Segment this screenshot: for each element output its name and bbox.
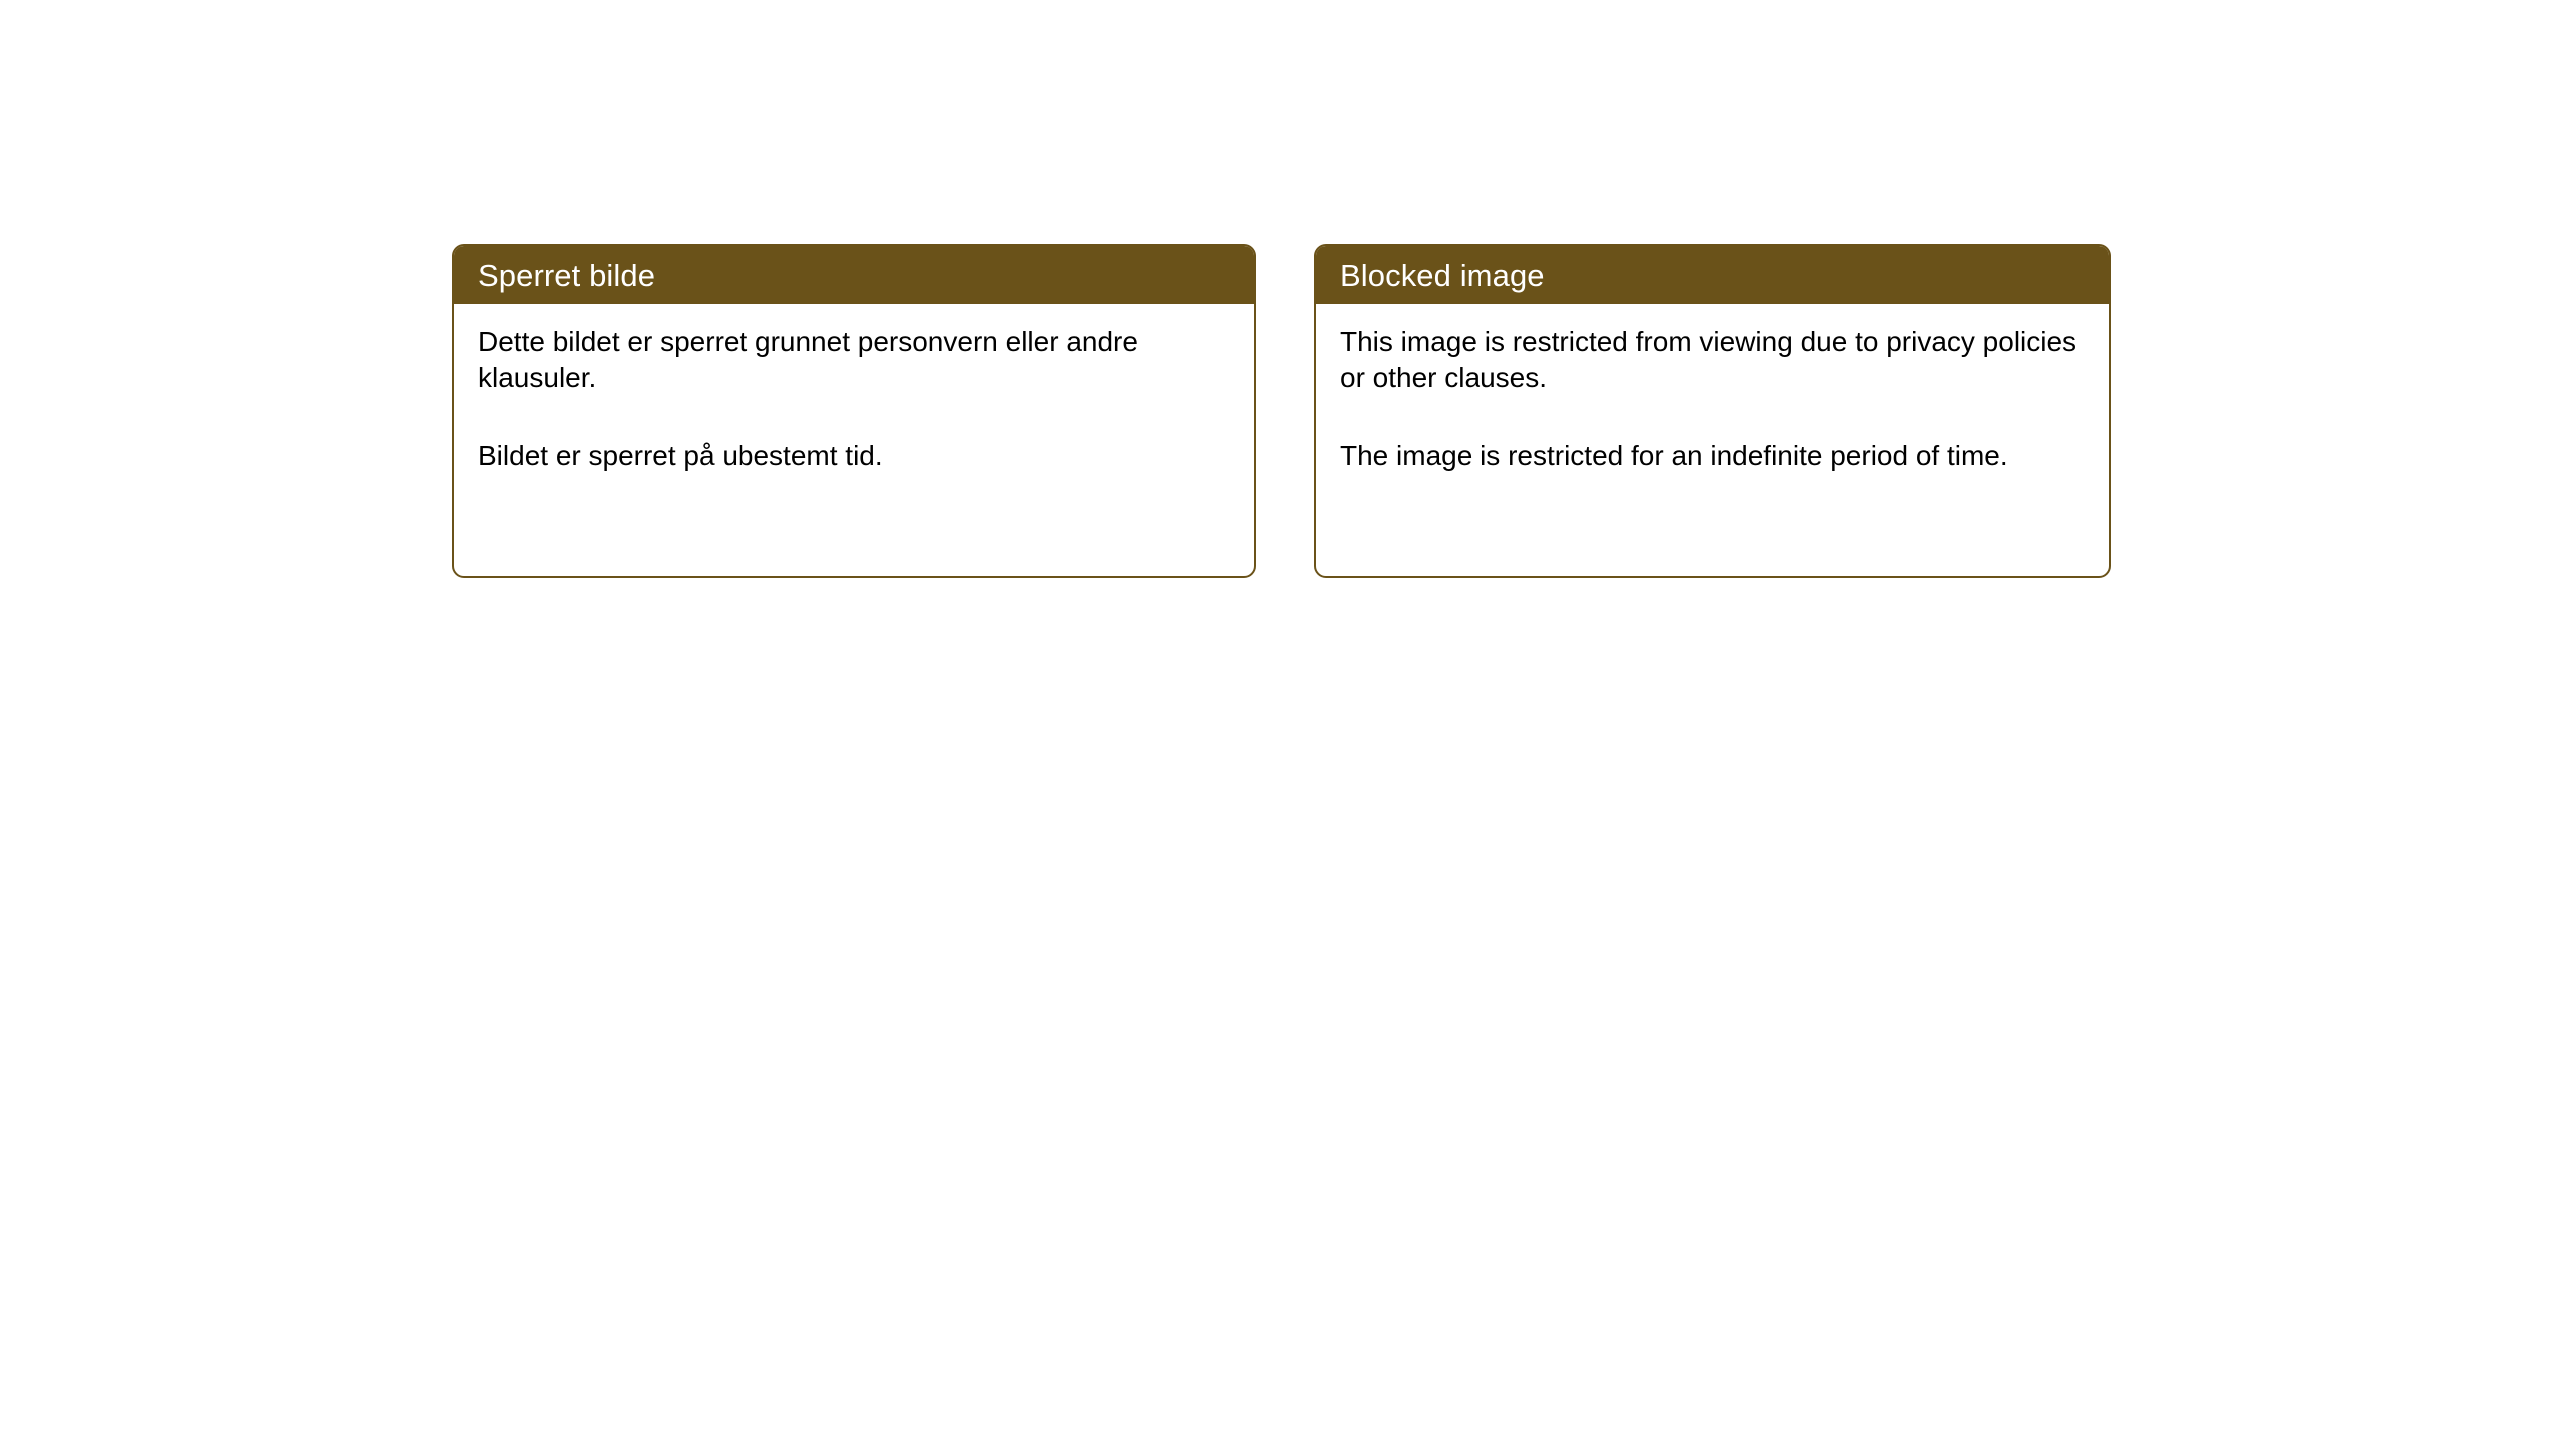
card-header-norwegian: Sperret bilde bbox=[454, 246, 1254, 304]
blocked-image-notice-card-english: Blocked image This image is restricted f… bbox=[1314, 244, 2111, 578]
blocked-image-notice-card-norwegian: Sperret bilde Dette bildet er sperret gr… bbox=[452, 244, 1256, 578]
page-canvas: Sperret bilde Dette bildet er sperret gr… bbox=[0, 0, 2560, 1440]
card-body-english: This image is restricted from viewing du… bbox=[1316, 304, 2109, 496]
card-paragraph-secondary-norwegian: Bildet er sperret på ubestemt tid. bbox=[478, 438, 1232, 474]
card-paragraph-secondary-english: The image is restricted for an indefinit… bbox=[1340, 438, 2087, 474]
card-paragraph-primary-norwegian: Dette bildet er sperret grunnet personve… bbox=[478, 324, 1232, 396]
card-header-english: Blocked image bbox=[1316, 246, 2109, 304]
card-paragraph-primary-english: This image is restricted from viewing du… bbox=[1340, 324, 2087, 396]
card-body-norwegian: Dette bildet er sperret grunnet personve… bbox=[454, 304, 1254, 496]
card-title-norwegian: Sperret bilde bbox=[478, 260, 655, 291]
card-title-english: Blocked image bbox=[1340, 260, 1545, 291]
